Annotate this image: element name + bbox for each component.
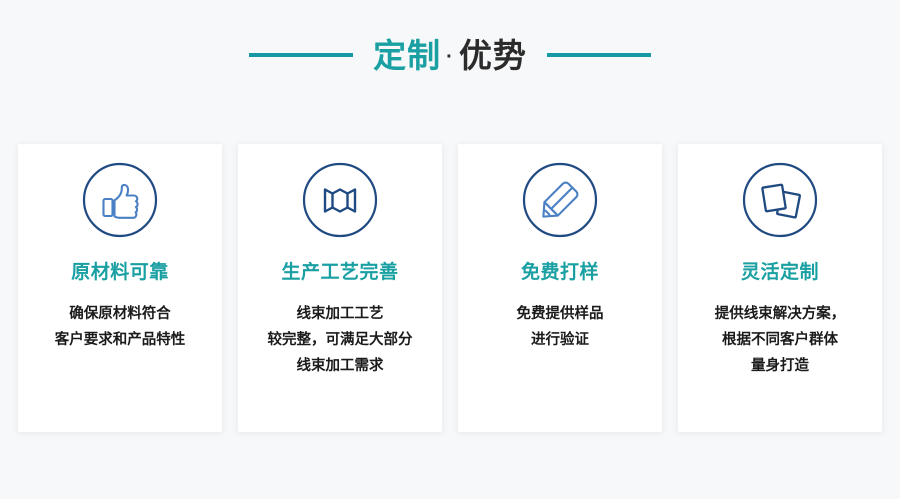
description-line: 线束加工需求 bbox=[245, 353, 435, 379]
heading-rule-right bbox=[547, 53, 651, 57]
feature-card-list: 原材料可靠 确保原材料符合 客户要求和产品特性 生产工艺完善 线束加工工艺 较完… bbox=[18, 144, 882, 432]
page-title-main: 优势 bbox=[459, 39, 527, 72]
description-line: 确保原材料符合 bbox=[25, 301, 215, 327]
feature-card[interactable]: 灵活定制 提供线束解决方案， 根据不同客户群体 量身打造 bbox=[678, 144, 882, 432]
feature-card-description: 提供线束解决方案， 根据不同客户群体 量身打造 bbox=[685, 301, 875, 379]
feature-card-description: 免费提供样品 进行验证 bbox=[465, 301, 655, 353]
feature-card-description: 确保原材料符合 客户要求和产品特性 bbox=[25, 301, 215, 353]
description-line: 较完整，可满足大部分 bbox=[245, 327, 435, 353]
feature-card-title: 灵活定制 bbox=[741, 263, 819, 282]
feature-card-title: 生产工艺完善 bbox=[281, 263, 398, 282]
description-line: 免费提供样品 bbox=[465, 301, 655, 327]
page-title: 定制 · 优势 bbox=[373, 39, 527, 72]
description-line: 提供线束解决方案， bbox=[685, 301, 875, 327]
feature-card-description: 线束加工工艺 较完整，可满足大部分 线束加工需求 bbox=[245, 301, 435, 379]
feature-card[interactable]: 免费打样 免费提供样品 进行验证 bbox=[458, 144, 662, 432]
heading-rule-left bbox=[249, 53, 353, 57]
description-line: 线束加工工艺 bbox=[245, 301, 435, 327]
feature-card[interactable]: 生产工艺完善 线束加工工艺 较完整，可满足大部分 线束加工需求 bbox=[238, 144, 442, 432]
thumbs-up-icon bbox=[81, 161, 159, 239]
section-header: 定制 · 优势 bbox=[0, 0, 900, 110]
description-line: 根据不同客户群体 bbox=[685, 327, 875, 353]
stacked-cards-icon bbox=[741, 161, 819, 239]
description-line: 进行验证 bbox=[465, 327, 655, 353]
feature-card-title: 免费打样 bbox=[521, 263, 599, 282]
feature-card[interactable]: 原材料可靠 确保原材料符合 客户要求和产品特性 bbox=[18, 144, 222, 432]
page-title-accent: 定制 bbox=[373, 39, 441, 72]
folded-map-icon bbox=[301, 161, 379, 239]
description-line: 客户要求和产品特性 bbox=[25, 327, 215, 353]
page-title-separator: · bbox=[446, 47, 454, 67]
pencil-icon bbox=[521, 161, 599, 239]
feature-card-title: 原材料可靠 bbox=[71, 263, 169, 282]
description-line: 量身打造 bbox=[685, 353, 875, 379]
